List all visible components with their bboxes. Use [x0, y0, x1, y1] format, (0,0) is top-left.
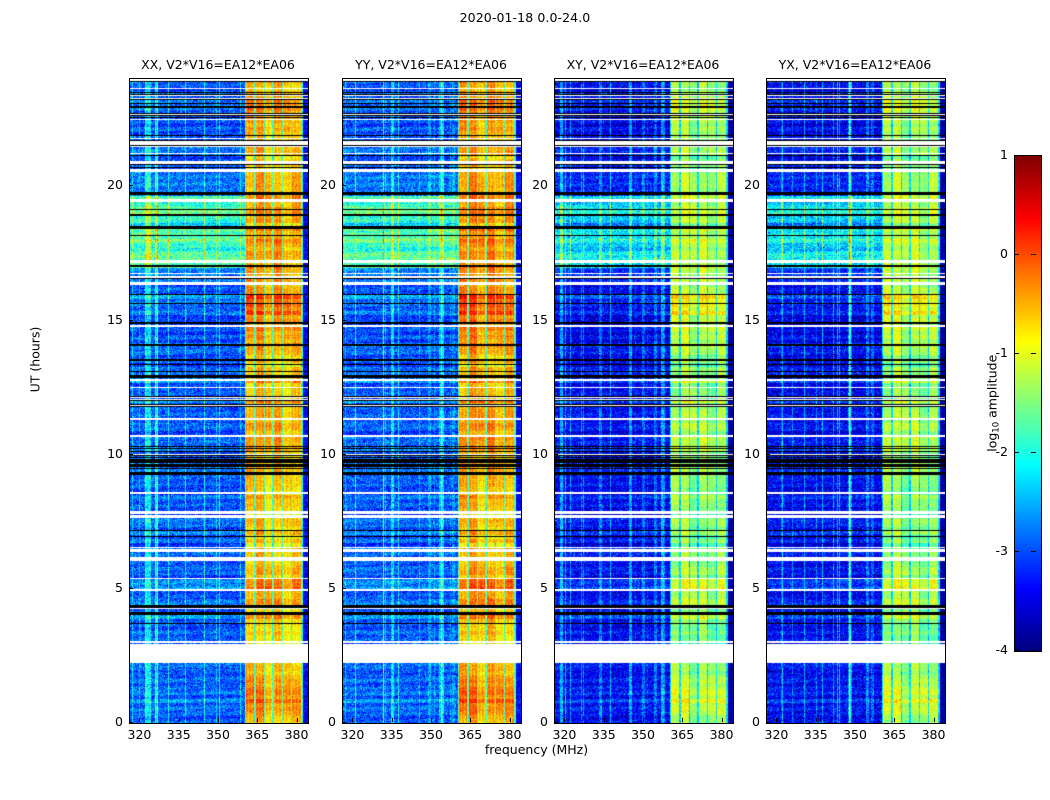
x-tick-label: 380 [277, 727, 317, 743]
x-tick-label: 335 [159, 727, 199, 743]
y-tick-label: 15 [518, 313, 548, 327]
y-tick-label: 20 [730, 178, 760, 192]
colorbar-tick-label: -3 [980, 544, 1008, 558]
x-tick-mark [564, 718, 565, 722]
panel-title-yx: YX, V2*V16=EA12*EA06 [766, 57, 944, 73]
y-tick-label: 20 [518, 178, 548, 192]
y-tick-label: 5 [306, 581, 336, 595]
x-tick-label: 365 [237, 727, 277, 743]
panel-title-yy: YY, V2*V16=EA12*EA06 [342, 57, 520, 73]
x-tick-label: 365 [874, 727, 914, 743]
waterfall-panel-xx [129, 78, 309, 724]
x-axis-label: frequency (MHz) [129, 742, 944, 757]
x-tick-label: 350 [411, 727, 451, 743]
y-tick-label: 15 [93, 313, 123, 327]
x-tick-mark [816, 718, 817, 722]
y-tick-mark [129, 185, 133, 186]
y-tick-mark [766, 588, 770, 589]
x-tick-mark [604, 718, 605, 722]
y-tick-label: 10 [518, 447, 548, 461]
x-tick-mark [297, 718, 298, 722]
x-tick-label: 365 [450, 727, 490, 743]
y-tick-label: 15 [306, 313, 336, 327]
x-tick-label: 335 [584, 727, 624, 743]
y-tick-mark [766, 185, 770, 186]
colorbar-tick-mark [1031, 452, 1036, 453]
waterfall-image-xy [555, 79, 733, 723]
y-axis-label: UT (hours) [28, 280, 43, 440]
colorbar-label-suffix: amplitude [985, 355, 1000, 422]
y-tick-mark [766, 454, 770, 455]
y-tick-label: 5 [518, 581, 548, 595]
x-tick-label: 335 [796, 727, 836, 743]
x-tick-label: 350 [198, 727, 238, 743]
colorbar-tick-label: -4 [980, 643, 1008, 657]
x-tick-mark [722, 718, 723, 722]
x-tick-mark [257, 718, 258, 722]
y-tick-mark [342, 454, 346, 455]
waterfall-image-xx [130, 79, 308, 723]
y-tick-mark [342, 588, 346, 589]
x-tick-label: 380 [702, 727, 742, 743]
y-tick-mark [766, 320, 770, 321]
y-tick-mark [554, 722, 558, 723]
x-tick-label: 350 [623, 727, 663, 743]
x-tick-label: 320 [332, 727, 372, 743]
figure-suptitle: 2020-01-18 0.0-24.0 [0, 10, 1050, 25]
x-tick-mark [776, 718, 777, 722]
y-tick-mark [342, 722, 346, 723]
x-tick-mark [352, 718, 353, 722]
x-tick-label: 380 [490, 727, 530, 743]
colorbar-tick-mark [1014, 353, 1019, 354]
colorbar-tick-mark [1031, 551, 1036, 552]
x-tick-mark [934, 718, 935, 722]
x-tick-mark [682, 718, 683, 722]
y-tick-mark [129, 722, 133, 723]
y-tick-mark [554, 588, 558, 589]
y-tick-mark [554, 320, 558, 321]
x-tick-mark [179, 718, 180, 722]
colorbar-tick-mark [1014, 650, 1019, 651]
x-tick-label: 320 [119, 727, 159, 743]
waterfall-panel-yx [766, 78, 946, 724]
x-tick-mark [392, 718, 393, 722]
waterfall-image-yx [767, 79, 945, 723]
panel-title-xx: XX, V2*V16=EA12*EA06 [129, 57, 307, 73]
y-tick-mark [766, 722, 770, 723]
panel-title-xy: XY, V2*V16=EA12*EA06 [554, 57, 732, 73]
colorbar-label-prefix: log [985, 433, 1000, 452]
y-tick-label: 10 [730, 447, 760, 461]
colorbar-tick-mark [1014, 155, 1019, 156]
colorbar-label-sub: 10 [991, 422, 1001, 433]
y-tick-label: 20 [306, 178, 336, 192]
waterfall-panel-yy [342, 78, 522, 724]
colorbar-tick-mark [1014, 551, 1019, 552]
colorbar-tick-mark [1031, 254, 1036, 255]
x-tick-mark [470, 718, 471, 722]
x-tick-label: 380 [914, 727, 954, 743]
y-tick-mark [342, 320, 346, 321]
x-tick-mark [855, 718, 856, 722]
x-tick-label: 335 [372, 727, 412, 743]
waterfall-panel-xy [554, 78, 734, 724]
y-tick-label: 5 [93, 581, 123, 595]
x-tick-mark [139, 718, 140, 722]
y-tick-label: 15 [730, 313, 760, 327]
x-tick-label: 320 [756, 727, 796, 743]
y-tick-mark [129, 588, 133, 589]
figure-root: 2020-01-18 0.0-24.0 XX, V2*V16=EA12*EA06… [0, 0, 1050, 800]
y-tick-label: 10 [93, 447, 123, 461]
y-tick-label: 5 [730, 581, 760, 595]
colorbar-label: log10 amplitude [985, 313, 1002, 493]
y-tick-mark [554, 185, 558, 186]
x-tick-mark [431, 718, 432, 722]
x-tick-mark [218, 718, 219, 722]
y-tick-mark [342, 185, 346, 186]
colorbar-tick-mark [1031, 155, 1036, 156]
x-tick-mark [894, 718, 895, 722]
colorbar-tick-mark [1014, 452, 1019, 453]
waterfall-image-yy [343, 79, 521, 723]
colorbar-tick-mark [1014, 254, 1019, 255]
colorbar-tick-label: 0 [980, 247, 1008, 261]
colorbar [1014, 155, 1042, 652]
y-tick-mark [129, 454, 133, 455]
x-tick-label: 350 [835, 727, 875, 743]
colorbar-tick-mark [1031, 650, 1036, 651]
x-tick-mark [510, 718, 511, 722]
colorbar-tick-mark [1031, 353, 1036, 354]
x-tick-label: 320 [544, 727, 584, 743]
y-tick-mark [554, 454, 558, 455]
x-tick-mark [643, 718, 644, 722]
y-tick-label: 20 [93, 178, 123, 192]
x-tick-label: 365 [662, 727, 702, 743]
y-tick-label: 10 [306, 447, 336, 461]
colorbar-tick-label: 1 [980, 148, 1008, 162]
y-tick-mark [129, 320, 133, 321]
